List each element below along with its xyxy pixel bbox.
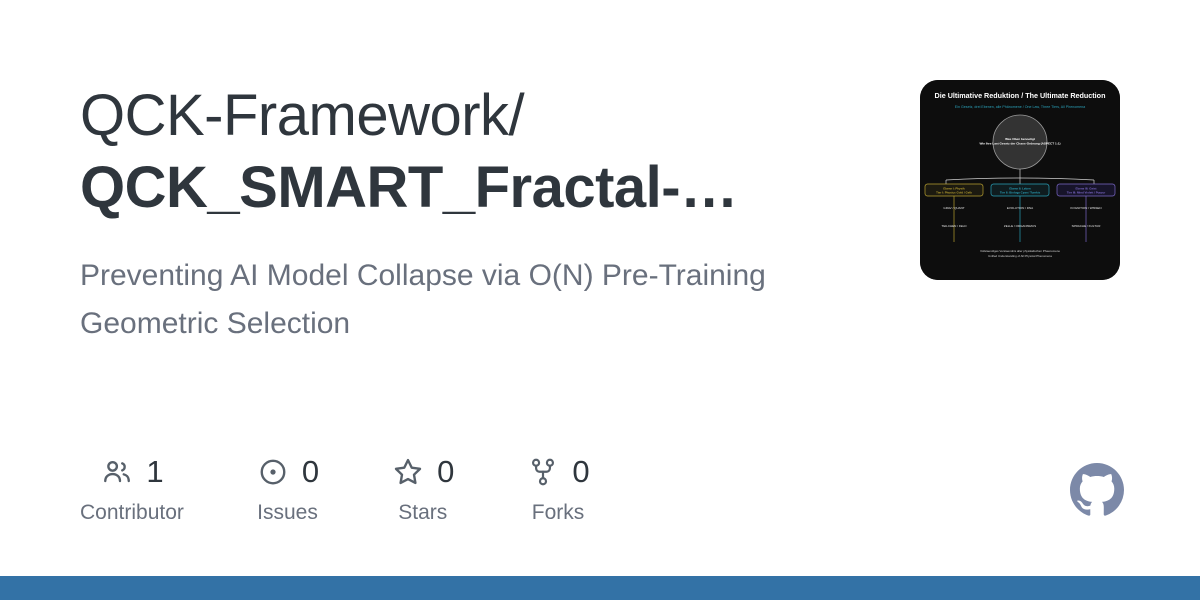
stat-top-row: 1: [100, 452, 163, 492]
people-icon: [100, 455, 134, 489]
stat-label: Issues: [257, 500, 318, 526]
fork-icon: [526, 455, 560, 489]
github-social-preview-card: QCK-Framework/ QCK_SMART_Fractal-… Preve…: [0, 0, 1200, 600]
stat-top-row: 0: [391, 452, 454, 492]
thumb-footer-line-2: Unified Understanding of All Physical Ph…: [988, 254, 1052, 258]
svg-text:TEILCHEN / FELD: TEILCHEN / FELD: [941, 224, 967, 228]
svg-text:Tier II: Biology Cyan / Tuerki: Tier II: Biology Cyan / Tuerkis: [1000, 190, 1041, 194]
github-octocat-icon: [1070, 463, 1124, 517]
thumb-center-label: Was Oben benoetigt: [1005, 137, 1035, 141]
repo-name[interactable]: QCK_SMART_Fractal-…: [80, 152, 780, 224]
stat-top-row: 0: [256, 452, 319, 492]
repository-preview-image: Die Ultimative Reduktion / The Ultimate …: [920, 80, 1120, 280]
star-icon: [391, 455, 425, 489]
stat-stars: 0 Stars: [391, 452, 454, 526]
bottom-accent-bar: [0, 576, 1200, 600]
svg-text:EVOLUTION / DNA: EVOLUTION / DNA: [1007, 206, 1033, 210]
repo-owner[interactable]: QCK-Framework/: [80, 80, 880, 152]
svg-text:GRAV / QUANT: GRAV / QUANT: [943, 206, 964, 210]
stat-contributors: 1 Contributor: [80, 452, 184, 526]
svg-text:ZELLE / ORGANISMUS: ZELLE / ORGANISMUS: [1004, 224, 1036, 228]
svg-text:KOGNITION / WISSEN: KOGNITION / WISSEN: [1070, 206, 1101, 210]
stat-issues: 0 Issues: [256, 452, 319, 526]
thumb-branch-boxes: Ebene I: Physik Tier I: Physics Gold / G…: [925, 184, 1115, 196]
repo-description: Preventing AI Model Collapse via O(N) Pr…: [80, 252, 870, 348]
stat-value: 1: [146, 455, 163, 489]
svg-text:Tier III: Mind Violett / Purpu: Tier III: Mind Violett / Purpur: [1067, 190, 1106, 194]
stat-label: Stars: [398, 500, 447, 526]
stat-forks: 0 Forks: [526, 452, 589, 526]
stat-top-row: 0: [526, 452, 589, 492]
stat-label: Forks: [532, 500, 585, 526]
issue-icon: [256, 455, 290, 489]
thumb-subtitle: Ein Gesetz, drei Ebenen, alle Phänomene …: [955, 105, 1085, 109]
stat-value: 0: [437, 455, 454, 489]
thumb-title: Die Ultimative Reduktion / The Ultimate …: [935, 91, 1106, 100]
thumb-center-label-2: Wie Ihre Last Gesetz der Chaos-Ordnung (…: [979, 141, 1060, 145]
stat-label: Contributor: [80, 500, 184, 526]
repo-stats: 1 Contributor 0 Issues: [80, 452, 662, 526]
svg-text:SPRACHE / KULTUR: SPRACHE / KULTUR: [1072, 224, 1102, 228]
thumb-footer-line-1: Vollstaendiges Verstaendnis aller physik…: [980, 249, 1060, 253]
svg-text:Tier I: Physics Gold / Gelb: Tier I: Physics Gold / Gelb: [936, 190, 972, 194]
stat-value: 0: [302, 455, 319, 489]
stat-value: 0: [572, 455, 589, 489]
repo-info-block: QCK-Framework/ QCK_SMART_Fractal-… Preve…: [80, 80, 880, 348]
